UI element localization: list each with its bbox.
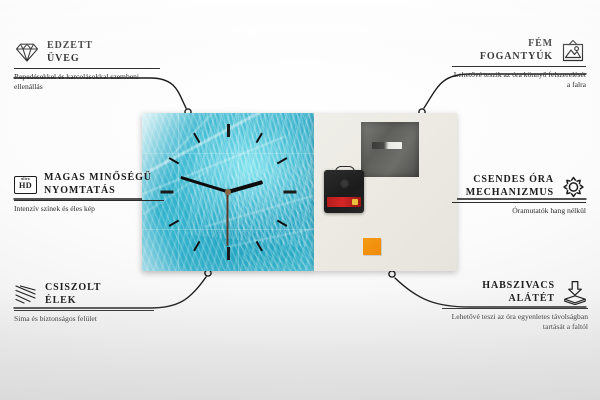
clock-tick-1 <box>256 133 263 144</box>
hanger-slot <box>372 142 402 149</box>
feature-description: Óramutatók hang nélkül <box>452 206 586 216</box>
endpoint-foam-spacer <box>389 271 395 277</box>
feature-print-quality: ultra HD MAGAS MINŐSÉGŰ NYOMTATÁS Intenz… <box>14 172 164 214</box>
feature-description: Lehetővé teszi az óra egyenletes távolsá… <box>442 312 588 332</box>
clock-mechanism <box>324 170 364 213</box>
feature-title-line1: CSENDES ÓRA <box>466 174 554 187</box>
metal-hanger-plate <box>361 122 419 177</box>
feature-tempered-glass: EDZETT ÜVEG Repedésekkel és karcolásokka… <box>14 40 160 92</box>
feature-title-line2: ÜVEG <box>47 53 93 66</box>
picture-frame-hanger-icon <box>560 39 586 63</box>
feature-description: Lehetővé teszik az óra könnyű felszerelé… <box>452 70 586 90</box>
clock-tick-11 <box>193 133 200 144</box>
mechanism-shaft <box>339 178 350 189</box>
feature-title-line1: MAGAS MINŐSÉGŰ <box>44 172 152 185</box>
feature-title-line2: NYOMTATÁS <box>44 185 152 198</box>
foam-spacer-pad <box>363 238 381 255</box>
arrow-down-into-pad-icon <box>562 280 588 305</box>
feature-description: Repedésekkel és karcolásokkal szembeni e… <box>14 72 160 92</box>
clock-tick-7 <box>193 241 200 252</box>
feature-title-line1: CSISZOLT <box>45 282 101 295</box>
feature-title-line2: FOGANTYÚK <box>480 51 553 64</box>
ultra-hd-badge-icon: ultra HD <box>14 176 37 194</box>
clock-face <box>142 113 314 271</box>
clock-tick-3 <box>283 191 296 194</box>
battery-terminal <box>352 199 358 205</box>
diagonal-lines-icon <box>14 284 38 305</box>
clock-center-cap <box>225 189 231 195</box>
clock-tick-4 <box>277 220 288 227</box>
clock-tick-2 <box>277 157 288 164</box>
feature-title-line2: ÉLEK <box>45 295 101 308</box>
clock-second-hand <box>227 192 229 246</box>
divider <box>14 68 160 69</box>
feature-title-line1: HABSZIVACS <box>482 280 555 293</box>
clock-tick-6 <box>227 247 230 260</box>
clock-tick-5 <box>256 241 263 252</box>
infographic-canvas: EDZETT ÜVEG Repedésekkel és karcolásokka… <box>0 0 600 400</box>
feature-title-line2: MECHANIZMUS <box>466 187 554 200</box>
feature-foam-spacer: HABSZIVACS ALÁTÉT Lehetővé teszi az óra … <box>442 280 588 332</box>
clock-back-panel <box>314 113 457 271</box>
gear-icon <box>561 175 586 199</box>
feature-description: Sima és biztonságos felület <box>14 314 154 324</box>
clock-hour-hand <box>227 180 263 194</box>
divider <box>452 66 586 67</box>
feature-metal-handles: FÉM FOGANTYÚK Lehetővé teszik az óra kön… <box>452 38 586 90</box>
divider <box>14 200 164 201</box>
divider <box>452 202 586 203</box>
clock-tick-12 <box>227 124 230 137</box>
mechanism-hook <box>335 166 355 174</box>
ultra-hd-large-text: HD <box>19 182 32 190</box>
feature-description: Intenzív színek és éles kép <box>14 204 164 214</box>
clock-front-panel <box>142 113 314 271</box>
divider <box>442 308 588 309</box>
clock-minute-hand <box>180 176 229 193</box>
feature-title-line1: EDZETT <box>47 40 93 53</box>
feature-title-line1: FÉM <box>480 38 553 51</box>
feature-polished-edges: CSISZOLT ÉLEK Sima és biztonságos felüle… <box>14 282 154 324</box>
diamond-icon <box>14 42 40 63</box>
feature-silent-mechanism: CSENDES ÓRA MECHANIZMUS <box>452 174 586 216</box>
divider <box>14 310 154 311</box>
feature-title-line2: ALÁTÉT <box>482 293 555 306</box>
clock-tick-8 <box>169 220 180 227</box>
battery <box>327 197 361 207</box>
clock-tick-10 <box>169 157 180 164</box>
